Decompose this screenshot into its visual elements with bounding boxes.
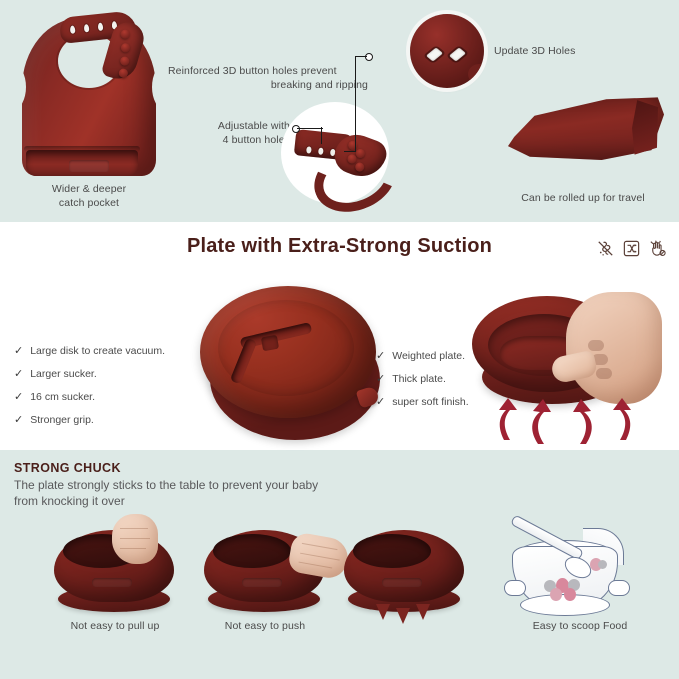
feature-item: ✓ Larger sucker. bbox=[14, 368, 204, 381]
leader-line-reinforced-h bbox=[356, 56, 367, 57]
bib-collar-closeup-image bbox=[295, 128, 391, 180]
chuck-caption: Not easy to pull up bbox=[40, 620, 190, 634]
feature-text: Stronger grip. bbox=[30, 414, 94, 427]
bowl-push-image bbox=[204, 530, 324, 612]
check-icon: ✓ bbox=[14, 368, 23, 380]
feature-item: ✓ Stronger grip. bbox=[14, 414, 204, 427]
infographic-page: Wider & deeper catch pocket Reinforced 3… bbox=[0, 0, 679, 679]
check-icon: ✓ bbox=[376, 350, 385, 362]
leader-line-reinforced-v bbox=[355, 56, 356, 152]
feature-text: Thick plate. bbox=[392, 373, 446, 386]
update-3d-holes-closeup-image bbox=[410, 14, 484, 88]
adjustable-label: Adjustable with 4 button holes bbox=[186, 119, 290, 147]
feature-item: ✓ Large disk to create vacuum. bbox=[14, 345, 204, 358]
strong-chuck-subtext: The plate strongly sticks to the table t… bbox=[14, 477, 434, 509]
leader-line-adjustable-h bbox=[297, 128, 323, 129]
plate-features-left-list: ✓ Large disk to create vacuum. ✓ Larger … bbox=[14, 345, 204, 437]
leader-dot-adjustable bbox=[292, 125, 300, 133]
safety-icons-group bbox=[596, 239, 667, 258]
check-icon: ✓ bbox=[376, 396, 385, 408]
chuck-caption: Not easy to push bbox=[190, 620, 340, 634]
reinforced-holes-label-line-1: Reinforced 3D button holes prevent bbox=[168, 64, 368, 78]
suction-arrows bbox=[468, 390, 664, 446]
feature-text: Weighted plate. bbox=[392, 350, 465, 363]
update-3d-holes-label-text: Update 3D Holes bbox=[494, 44, 614, 58]
plate-section-title: Plate with Extra-Strong Suction bbox=[0, 235, 679, 258]
food-bit bbox=[598, 560, 607, 569]
chuck-item-pull-up: Not easy to pull up bbox=[40, 520, 190, 640]
feature-text: super soft finish. bbox=[392, 396, 468, 409]
chuck-item-scoop-food: Easy to scoop Food bbox=[490, 520, 670, 640]
hand-gripping-plate-image bbox=[468, 286, 664, 446]
update-3d-holes-label: Update 3D Holes bbox=[494, 44, 614, 58]
bib-caption: Wider & deeper catch pocket bbox=[14, 183, 164, 210]
check-icon: ✓ bbox=[376, 373, 385, 385]
chuck-caption: Easy to scoop Food bbox=[490, 620, 670, 634]
dishwasher-safe-icon bbox=[622, 239, 641, 258]
rolled-bib-caption-text: Can be rolled up for travel bbox=[490, 192, 676, 206]
adjustable-label-line-2: 4 button holes bbox=[186, 133, 290, 147]
feature-text: Large disk to create vacuum. bbox=[30, 345, 165, 358]
leader-line-adjustable-v bbox=[321, 127, 322, 144]
food-bit bbox=[550, 588, 562, 601]
leader-line-reinforced-h2 bbox=[344, 151, 356, 152]
strong-chuck-subtext-line-2: from knocking it over bbox=[14, 493, 434, 509]
bpa-free-icon bbox=[596, 239, 615, 258]
strong-chuck-subtext-line-1: The plate strongly sticks to the table t… bbox=[14, 477, 434, 493]
rolled-bib-caption: Can be rolled up for travel bbox=[490, 192, 676, 206]
reinforced-holes-label-line-2: breaking and ripping bbox=[168, 78, 368, 92]
check-icon: ✓ bbox=[14, 345, 23, 357]
scoop-food-bowl-image bbox=[502, 524, 630, 620]
feature-text: Larger sucker. bbox=[30, 368, 97, 381]
plate-underside-image bbox=[196, 278, 392, 448]
bib-caption-line-2: catch pocket bbox=[14, 197, 164, 211]
check-icon: ✓ bbox=[14, 414, 23, 426]
rolled-bib-image bbox=[508, 96, 664, 162]
silicone-bib-image bbox=[14, 12, 164, 182]
feature-item: ✓ 16 cm sucker. bbox=[14, 391, 204, 404]
check-icon: ✓ bbox=[14, 391, 23, 403]
bib-caption-line-1: Wider & deeper bbox=[14, 183, 164, 197]
bowl-pull-up-image bbox=[54, 530, 174, 612]
food-bit bbox=[564, 588, 576, 601]
bowl-suction-prongs-image bbox=[344, 530, 464, 612]
feature-text: 16 cm sucker. bbox=[30, 391, 95, 404]
adjustable-label-line-1: Adjustable with bbox=[186, 119, 290, 133]
chuck-item-push: Not easy to push bbox=[190, 520, 340, 640]
reinforced-holes-label: Reinforced 3D button holes prevent break… bbox=[168, 64, 368, 92]
non-toxic-hand-icon bbox=[648, 239, 667, 258]
strong-chuck-heading: STRONG CHUCK bbox=[14, 461, 121, 475]
chuck-item-suction-prongs bbox=[330, 520, 480, 640]
